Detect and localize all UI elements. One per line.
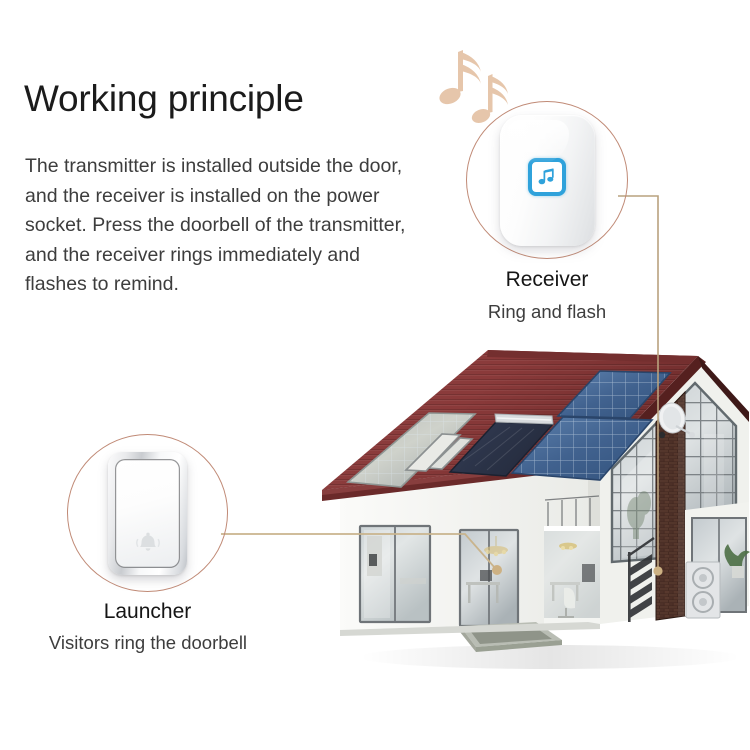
receiver-device[interactable] bbox=[500, 115, 595, 246]
launcher-button-face[interactable] bbox=[115, 459, 180, 568]
launcher-device[interactable] bbox=[108, 452, 187, 575]
infographic-page: Working principle The transmitter is ins… bbox=[0, 0, 750, 750]
bell-icon bbox=[133, 530, 163, 556]
launcher-sublabel: Visitors ring the doorbell bbox=[17, 632, 279, 654]
house-illustration bbox=[300, 330, 750, 690]
receiver-sublabel: Ring and flash bbox=[446, 301, 648, 323]
launcher-label: Launcher bbox=[67, 600, 228, 624]
heat-pump-unit bbox=[686, 562, 720, 618]
music-note-icon bbox=[528, 158, 566, 196]
description-paragraph: The transmitter is installed outside the… bbox=[25, 152, 425, 300]
page-title: Working principle bbox=[24, 78, 304, 120]
receiver-label: Receiver bbox=[466, 268, 628, 292]
